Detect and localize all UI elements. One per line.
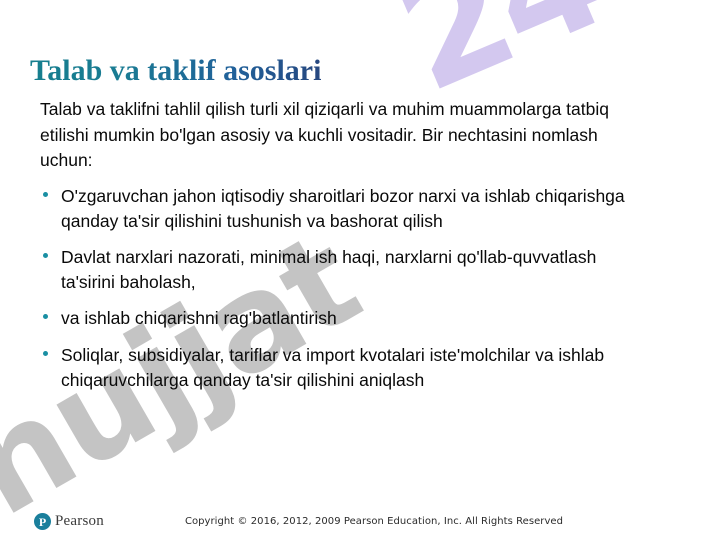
bullet-dot-icon: [43, 314, 48, 319]
bullet-dot-icon: [43, 351, 48, 356]
page-title: Talab va taklif asoslari: [30, 54, 321, 89]
list-item-label: va ishlab chiqarishni rag'batlantirish: [61, 308, 337, 328]
list-item: va ishlab chiqarishni rag'batlantirish: [40, 306, 650, 331]
list-item: Davlat narxlari nazorati, minimal ish ha…: [40, 245, 650, 295]
list-item-label: Soliqlar, subsidiyalar, tariflar va impo…: [61, 345, 604, 390]
bullet-dot-icon: [43, 192, 48, 197]
slide: 24 hujjat Talab va taklif asoslari Talab…: [0, 0, 720, 540]
list-item-label: O'zgaruvchan jahon iqtisodiy sharoitlari…: [61, 186, 625, 231]
bullet-dot-icon: [43, 253, 48, 258]
copyright-text: Copyright © 2016, 2012, 2009 Pearson Edu…: [0, 516, 720, 527]
intro-paragraph: Talab va taklifni tahlil qilish turli xi…: [40, 97, 620, 174]
list-item: O'zgaruvchan jahon iqtisodiy sharoitlari…: [40, 184, 650, 234]
footer: P Pearson Copyright © 2016, 2012, 2009 P…: [0, 504, 720, 534]
body-block: Talab va taklifni tahlil qilish turli xi…: [40, 97, 650, 393]
list-item: Soliqlar, subsidiyalar, tariflar va impo…: [40, 343, 650, 393]
list-item-label: Davlat narxlari nazorati, minimal ish ha…: [61, 247, 596, 292]
content-layer: Talab va taklif asoslari Talab va taklif…: [0, 0, 720, 540]
bullet-list: O'zgaruvchan jahon iqtisodiy sharoitlari…: [40, 184, 650, 393]
